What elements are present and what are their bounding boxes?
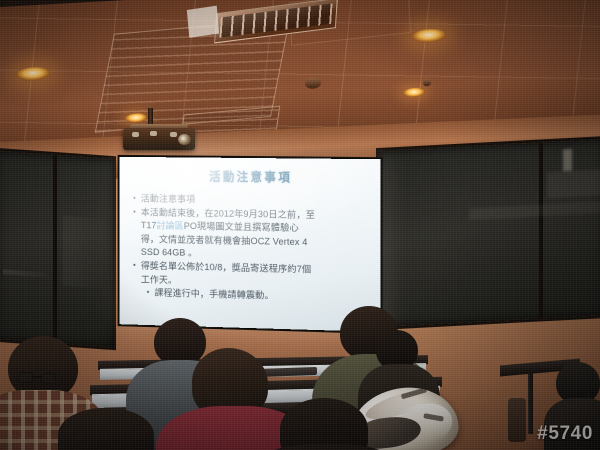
bullet-marker: • bbox=[147, 287, 155, 300]
photo-canvas: 活動注意事項 • 活動注意事項 • 本活動結束後，在2012年9月30日之前，至… bbox=[0, 0, 600, 450]
window-right bbox=[376, 136, 600, 330]
window-mullion-left bbox=[53, 155, 57, 343]
bullet-marker: • bbox=[133, 206, 141, 219]
projector-button-mid[interactable] bbox=[150, 131, 157, 136]
projector-button-right[interactable] bbox=[170, 132, 177, 137]
bullet-marker-empty bbox=[133, 273, 141, 286]
glasses-bridge bbox=[33, 376, 41, 378]
window-exterior-light bbox=[563, 149, 572, 171]
window-reflection-left-2 bbox=[63, 216, 103, 289]
window-mullion-right bbox=[539, 142, 543, 318]
vent-label-sticker bbox=[187, 6, 219, 38]
projector-button-left[interactable] bbox=[132, 132, 139, 137]
bullet-marker-empty bbox=[133, 246, 141, 259]
bullet-marker-empty bbox=[133, 219, 141, 232]
watermark: #5740 bbox=[537, 423, 593, 445]
bullet-marker: • bbox=[133, 192, 141, 205]
slide-bullet-list: • 活動注意事項 • 本活動結束後，在2012年9月30日之前，至 T17討論區… bbox=[133, 192, 371, 305]
eyeglasses bbox=[18, 372, 56, 384]
bullet-marker-empty bbox=[133, 233, 141, 246]
bullet-marker: • bbox=[133, 259, 141, 272]
projection-screen: 活動注意事項 • 活動注意事項 • 本活動結束後，在2012年9月30日之前，至… bbox=[120, 157, 381, 332]
chair-back-right bbox=[508, 398, 526, 442]
forum-link[interactable]: 討論區 bbox=[157, 221, 184, 231]
bullet-text-suffix: PO現場圖文並且撰寫體驗心 bbox=[184, 221, 299, 233]
head bbox=[154, 318, 206, 366]
projector-lens-icon bbox=[178, 134, 191, 145]
desk-leg-right bbox=[528, 372, 533, 434]
glasses-lens-left bbox=[18, 372, 33, 383]
glasses-lens-right bbox=[41, 373, 56, 384]
bullet-text-prefix: T17 bbox=[141, 220, 157, 230]
window-exterior-glow bbox=[547, 169, 600, 198]
window-reflection-left bbox=[3, 269, 49, 277]
slide-title: 活動注意事項 bbox=[133, 167, 371, 186]
window-left bbox=[0, 148, 116, 351]
slide-content: 活動注意事項 • 活動注意事項 • 本活動結束後，在2012年9月30日之前，至… bbox=[120, 157, 381, 332]
